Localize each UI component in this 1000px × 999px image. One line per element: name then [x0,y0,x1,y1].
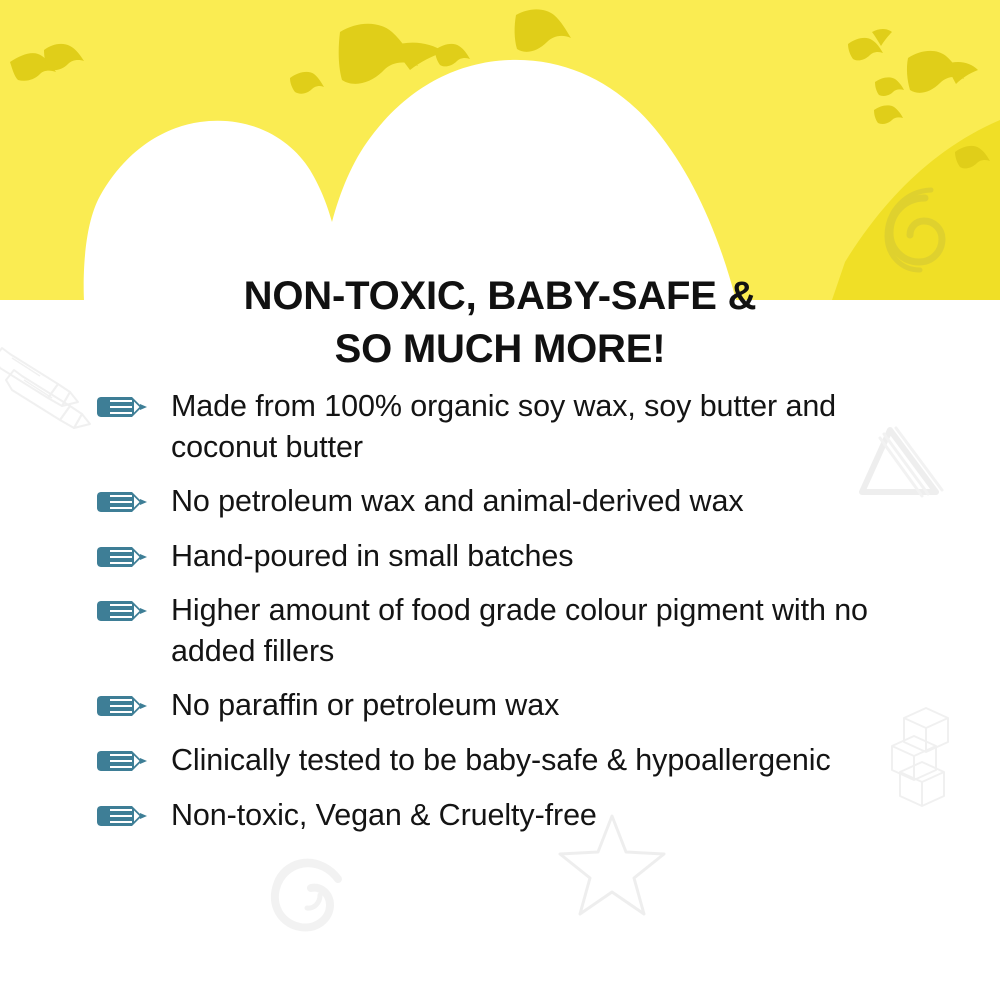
page-title: NON-TOXIC, BABY-SAFE & SO MUCH MORE! [0,270,1000,376]
pencil-icon [96,695,148,717]
list-item-label: Non-toxic, Vegan & Cruelty-free [171,795,597,836]
headline-line-1: NON-TOXIC, BABY-SAFE & [0,270,1000,323]
list-item: Clinically tested to be baby-safe & hypo… [96,740,906,781]
pencil-icon [96,491,148,513]
headline-line-2: SO MUCH MORE! [0,323,1000,376]
pencil-icon [96,805,148,827]
list-item-label: Hand-poured in small batches [171,536,573,577]
list-item: No paraffin or petroleum wax [96,685,906,726]
pencil-icon [96,546,148,568]
list-item-label: Clinically tested to be baby-safe & hypo… [171,740,831,781]
list-item: Made from 100% organic soy wax, soy butt… [96,386,906,467]
list-item: Non-toxic, Vegan & Cruelty-free [96,795,906,836]
pencil-icon [96,396,148,418]
list-item: Hand-poured in small batches [96,536,906,577]
sky-banner [0,0,1000,300]
swirl-outline-icon [262,845,354,937]
list-item-label: No petroleum wax and animal-derived wax [171,481,744,522]
list-item-label: No paraffin or petroleum wax [171,685,559,726]
pencil-icon [96,600,148,622]
list-item-label: Higher amount of food grade colour pigme… [171,590,906,671]
pencil-icon [96,750,148,772]
list-item: Higher amount of food grade colour pigme… [96,590,906,671]
feature-list: Made from 100% organic soy wax, soy butt… [96,386,906,849]
list-item: No petroleum wax and animal-derived wax [96,481,906,522]
list-item-label: Made from 100% organic soy wax, soy butt… [171,386,906,467]
poster-canvas: NON-TOXIC, BABY-SAFE & SO MUCH MORE! [0,0,1000,999]
